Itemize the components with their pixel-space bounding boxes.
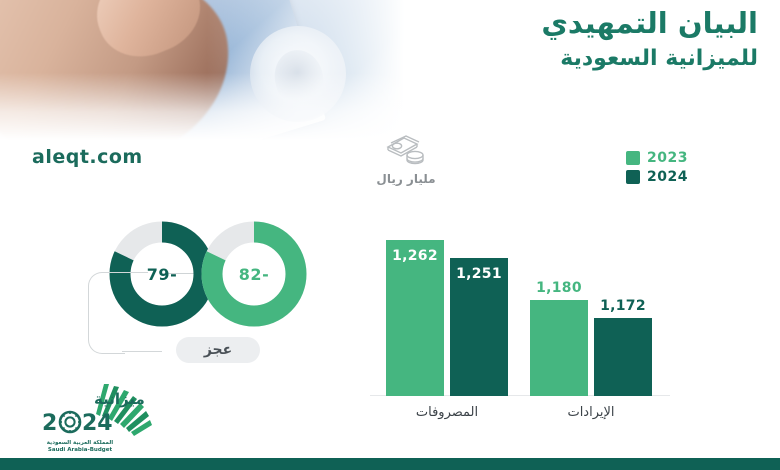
- legend-year-2024: 2024: [647, 169, 688, 185]
- legend-item-2024: 2024: [598, 167, 688, 186]
- deficit-label-pill: عجز: [176, 337, 260, 363]
- bar-group: 1,262 1,251 1,180 1,172: [370, 226, 670, 396]
- deficit-donut-2023: 82-: [198, 218, 310, 330]
- site-watermark: aleqt.com: [32, 146, 143, 168]
- logo-subtitle-en: Saudi Arabia-Budget: [38, 447, 122, 454]
- unit-label: مليار ريال: [360, 172, 452, 186]
- bracket-curve: [88, 272, 125, 354]
- page-title-line2: للميزانية السعودية: [428, 44, 758, 73]
- budget-bar-chart: 1,262 1,251 1,180 1,172 المصروفات الإيرا…: [370, 215, 670, 420]
- bar-value-expenses-2024: 1,251: [450, 266, 508, 282]
- bar-expenses-2024: 1,251: [450, 258, 508, 396]
- bar-value-expenses-2023: 1,262: [386, 248, 444, 264]
- svg-text:2: 2: [42, 411, 57, 436]
- svg-text:24: 24: [82, 411, 113, 436]
- legend-item-2023: 2023: [598, 148, 688, 167]
- bar-revenues-2023: 1,180: [530, 300, 588, 396]
- category-label-expenses: المصروفات: [380, 405, 514, 420]
- page-title-line1: البيان التمهيدي: [541, 6, 758, 40]
- legend-swatch-2024: [626, 170, 640, 184]
- chart-legend: 2023 2024: [598, 148, 688, 186]
- bracket-top-line: [122, 272, 148, 273]
- saudi-budget-logo: ميزانية 2 24 المملكة العربية السعودية Sa…: [34, 378, 162, 456]
- svg-text:ميزانية: ميزانية: [94, 390, 145, 408]
- deficit-value-2023: 82-: [198, 218, 310, 330]
- header-photo-banknotes: [0, 0, 470, 140]
- bar-expenses-2023: 1,262: [386, 240, 444, 396]
- bracket-bottom-line: [122, 351, 162, 352]
- infographic-canvas: البيان التمهيدي للميزانية السعودية aleqt…: [0, 0, 780, 470]
- bar-fill: [530, 300, 588, 396]
- page-title: البيان التمهيدي للميزانية السعودية: [428, 4, 758, 73]
- unit-indicator: مليار ريال: [360, 134, 452, 186]
- money-stack-icon: [360, 134, 452, 168]
- logo-subtitle: المملكة العربية السعودية Saudi Arabia-Bu…: [38, 440, 122, 455]
- legend-year-2023: 2023: [647, 150, 688, 166]
- bar-fill: [594, 318, 652, 396]
- footer-bar: [0, 458, 780, 470]
- category-label-revenues: الإيرادات: [524, 405, 658, 420]
- logo-subtitle-ar: المملكة العربية السعودية: [38, 440, 122, 447]
- legend-swatch-2023: [626, 151, 640, 165]
- bar-revenues-2024: 1,172: [594, 318, 652, 396]
- bar-value-revenues-2024: 1,172: [594, 298, 652, 314]
- bar-value-revenues-2023: 1,180: [530, 280, 588, 296]
- photo-fade-vertical: [0, 0, 470, 140]
